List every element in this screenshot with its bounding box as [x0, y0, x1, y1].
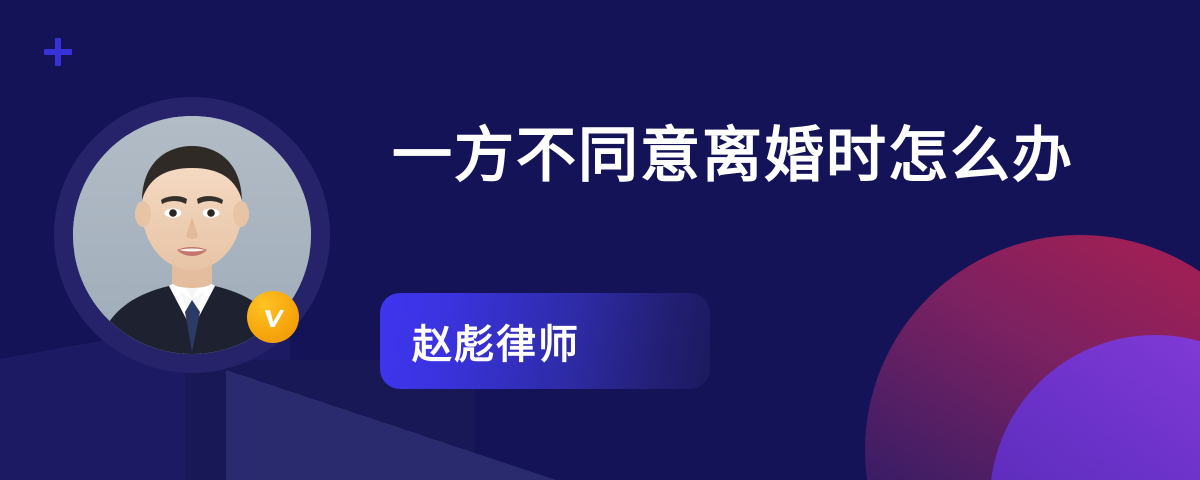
- lawyer-name-chip[interactable]: 赵彪律师: [380, 293, 710, 389]
- lawyer-name-label: 赵彪律师: [412, 312, 580, 370]
- avatar[interactable]: [54, 97, 330, 373]
- verified-badge-icon: [247, 291, 299, 343]
- page-title: 一方不同意离婚时怎么办: [392, 126, 1074, 186]
- lawyer-promo-banner: 一方不同意离婚时怎么办 赵彪律师: [0, 0, 1200, 480]
- plus-icon: [44, 38, 72, 66]
- purple-gradient-circle: [990, 335, 1200, 480]
- crimson-gradient-circle: [865, 235, 1200, 480]
